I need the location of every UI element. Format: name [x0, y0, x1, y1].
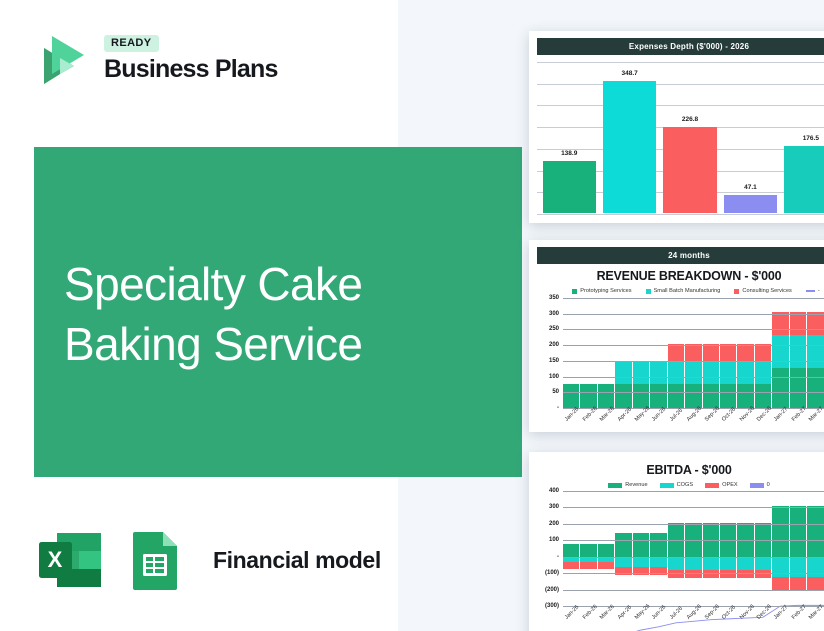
axis-tick: Jun-26 — [650, 408, 666, 432]
axis-tick-label: May-26 — [634, 405, 651, 422]
axis-tick: Mar-27 — [807, 408, 823, 432]
axis-tick-label: Nov-26 — [739, 406, 756, 423]
brand-block: READY Business Plans — [30, 28, 278, 90]
ebitda-plot-area — [563, 491, 824, 606]
bar-segment — [720, 362, 736, 384]
bar-column: 47.1 — [720, 62, 780, 213]
legend-swatch — [646, 289, 651, 294]
axis-tick-label: 100 — [549, 374, 559, 380]
bar-segment — [807, 557, 823, 578]
bar-segment — [633, 533, 649, 557]
gridline — [563, 557, 824, 558]
revenue-legend: Prototyping ServicesSmall Batch Manufact… — [537, 288, 824, 294]
axis-tick: Feb-26 — [580, 606, 596, 631]
axis-tick-label: 350 — [549, 295, 559, 301]
axis-tick-label: Oct-26 — [721, 605, 737, 621]
axis-tick-label: 50 — [552, 389, 559, 395]
legend-item: Small Batch Manufacturing — [646, 288, 721, 294]
gridline — [563, 590, 824, 591]
axis-tick: Sep-26 — [703, 408, 719, 432]
bar-segment — [668, 384, 684, 408]
chart-card-revenue[interactable]: 24 months REVENUE BREAKDOWN - $'000 Prot… — [529, 240, 824, 432]
legend-label: 0 — [767, 482, 770, 488]
bar-segment — [720, 557, 736, 570]
bar-segment — [563, 562, 579, 569]
bar-column: 176.5 — [781, 62, 824, 213]
axis-tick-label: Mar-27 — [808, 604, 824, 621]
bar-segment — [650, 384, 666, 408]
axis-tick: May-26 — [633, 408, 649, 432]
bar-segment — [720, 344, 736, 363]
axis-tick-label: Aug-26 — [686, 604, 703, 621]
bar-segment — [650, 362, 666, 384]
gridline — [563, 345, 824, 346]
axis-tick-label: - — [557, 554, 559, 560]
chart-card-expenses[interactable]: Expenses Depth ($'000) - 2026 138.9348.7… — [529, 31, 824, 223]
play-triangle-logo-icon — [30, 28, 92, 90]
legend-swatch — [572, 289, 577, 294]
bar: 226.8 — [663, 127, 716, 213]
bar-segment — [615, 362, 631, 384]
axis-tick: Feb-27 — [790, 606, 806, 631]
axis-tick: Dec-26 — [755, 408, 771, 432]
ready-badge: READY — [104, 35, 159, 52]
bar-segment — [650, 533, 666, 557]
axis-tick-label: Oct-26 — [721, 407, 737, 423]
bar-segment — [790, 368, 806, 408]
bar-segment — [790, 557, 806, 578]
gridline — [563, 507, 824, 508]
axis-tick-label: Feb-27 — [791, 604, 808, 621]
bar-segment — [755, 384, 771, 408]
legend-label: Prototyping Services — [580, 288, 631, 294]
bar-value-label: 226.8 — [663, 116, 716, 123]
bar-segment — [772, 577, 788, 590]
legend-label: COGS — [677, 482, 693, 488]
microsoft-excel-icon: X — [33, 524, 105, 596]
chart-header-revenue: 24 months — [537, 247, 824, 264]
axis-tick-label: 150 — [549, 358, 559, 364]
legend-label: OPEX — [722, 482, 738, 488]
axis-tick: Aug-26 — [685, 408, 701, 432]
bar-segment — [668, 362, 684, 384]
bar: 47.1 — [724, 195, 777, 213]
bar-segment — [703, 344, 719, 363]
axis-tick: Feb-26 — [580, 408, 596, 432]
axis-tick: Jun-26 — [650, 606, 666, 631]
axis-tick: Jan-27 — [772, 408, 788, 432]
gridline — [563, 392, 824, 393]
axis-tick-label: Jan-26 — [564, 604, 580, 620]
axis-tick-label: Jun-26 — [651, 406, 667, 422]
brand-name: Business Plans — [104, 56, 278, 82]
ebitda-chart-title: EBITDA - $'000 — [537, 463, 824, 477]
axis-tick-label: Jun-26 — [651, 604, 667, 620]
bar-segment — [580, 562, 596, 569]
axis-tick-label: 300 — [549, 311, 559, 317]
axis-tick: Jan-26 — [563, 408, 579, 432]
axis-tick-label: Jan-27 — [773, 604, 789, 620]
bar-segment — [807, 312, 823, 335]
bar-segment — [772, 335, 788, 368]
axis-tick: Mar-26 — [598, 408, 614, 432]
bar-value-label: 176.5 — [784, 135, 824, 142]
chart-header-expenses: Expenses Depth ($'000) - 2026 — [537, 38, 824, 55]
legend-swatch — [734, 289, 739, 294]
axis-tick: May-26 — [633, 606, 649, 631]
axis-tick-label: 300 — [549, 504, 559, 510]
gridline — [563, 298, 824, 299]
bar-segment — [598, 562, 614, 569]
axis-tick-label: Feb-26 — [582, 604, 599, 621]
axis-tick-label: Jul-26 — [669, 606, 684, 621]
axis-tick: Jul-26 — [668, 408, 684, 432]
legend-item: OPEX — [705, 482, 738, 488]
bar-segment — [685, 362, 701, 384]
bar-segment — [685, 557, 701, 570]
bar-segment — [685, 344, 701, 363]
axis-tick-label: Feb-26 — [582, 406, 599, 423]
ebitda-x-axis: Jan-26Feb-26Mar-26Apr-26May-26Jun-26Jul-… — [563, 606, 824, 631]
axis-tick-label: Sep-26 — [704, 406, 721, 423]
expenses-plot: 138.9348.7226.847.1176.5 — [537, 62, 824, 214]
axis-tick: Oct-26 — [720, 606, 736, 631]
axis-tick-label: Apr-26 — [616, 605, 632, 621]
axis-tick-label: Apr-26 — [616, 407, 632, 423]
bar-segment — [772, 312, 788, 335]
bar-value-label: 47.1 — [724, 184, 777, 191]
bar-segment — [668, 344, 684, 363]
legend-swatch — [608, 483, 622, 488]
bar-segment — [772, 506, 788, 557]
axis-tick: Aug-26 — [685, 606, 701, 631]
revenue-plot-area — [563, 298, 824, 408]
axis-tick: Dec-26 — [755, 606, 771, 631]
bar-segment — [755, 362, 771, 384]
bar-segment — [790, 335, 806, 368]
axis-tick-label: Dec-26 — [756, 406, 773, 423]
bar-segment — [720, 384, 736, 408]
ebitda-y-axis: 400300200100-(100)(200)(300) — [537, 491, 561, 606]
bar-segment — [580, 384, 596, 408]
bar-column: 226.8 — [660, 62, 720, 213]
ebitda-plot: 400300200100-(100)(200)(300) — [537, 491, 824, 606]
bar-segment — [772, 557, 788, 578]
legend-item: Revenue — [608, 482, 647, 488]
expenses-bars: 138.9348.7226.847.1176.5 — [539, 62, 824, 213]
bar-segment — [790, 312, 806, 335]
bar: 348.7 — [603, 81, 656, 213]
bar-column: 138.9 — [539, 62, 599, 213]
legend-label: Consulting Services — [742, 288, 791, 294]
axis-tick-label: Nov-26 — [739, 604, 756, 621]
bar-segment — [615, 384, 631, 408]
revenue-plot: 35030025020015010050- — [537, 298, 824, 408]
axis-tick: Nov-26 — [737, 606, 753, 631]
gridline — [563, 491, 824, 492]
revenue-chart-title: REVENUE BREAKDOWN - $'000 — [537, 269, 824, 283]
axis-tick-label: May-26 — [634, 603, 651, 620]
axis-tick-label: (100) — [545, 570, 559, 576]
gridline — [563, 377, 824, 378]
axis-tick: Jul-26 — [668, 606, 684, 631]
bar-segment — [703, 362, 719, 384]
axis-tick-label: Mar-26 — [599, 406, 616, 423]
gridline — [563, 361, 824, 362]
bar-segment — [685, 384, 701, 408]
bar-segment — [737, 557, 753, 570]
legend-item: 0 — [750, 482, 770, 488]
bar-segment — [668, 557, 684, 570]
chart-card-ebitda[interactable]: EBITDA - $'000 RevenueCOGSOPEX0 40030020… — [529, 452, 824, 631]
axis-tick-label: 100 — [549, 537, 559, 543]
bar-segment — [580, 544, 596, 556]
legend-swatch — [750, 483, 764, 488]
axis-tick-label: Jul-26 — [669, 408, 684, 423]
footer-row: X Financial model — [33, 524, 381, 596]
bar-segment — [755, 344, 771, 363]
axis-tick: Mar-27 — [807, 606, 823, 631]
axis-tick-label: 200 — [549, 521, 559, 527]
bar-segment — [807, 368, 823, 408]
bar-value-label: 348.7 — [603, 70, 656, 77]
legend-label: Small Batch Manufacturing — [654, 288, 721, 294]
bar-segment — [633, 557, 649, 567]
bar-segment — [737, 362, 753, 384]
axis-tick-label: 200 — [549, 342, 559, 348]
legend-item: COGS — [660, 482, 693, 488]
google-sheets-icon — [119, 524, 191, 596]
bar-segment — [650, 557, 666, 567]
axis-tick: Jan-27 — [772, 606, 788, 631]
revenue-x-axis: Jan-26Feb-26Mar-26Apr-26May-26Jun-26Jul-… — [563, 408, 824, 432]
svg-text:X: X — [48, 547, 63, 572]
axis-tick: Nov-26 — [737, 408, 753, 432]
axis-tick: Apr-26 — [615, 408, 631, 432]
gridline — [563, 314, 824, 315]
bar-segment — [563, 384, 579, 408]
revenue-y-axis: 35030025020015010050- — [537, 298, 561, 408]
axis-tick-label: Aug-26 — [686, 406, 703, 423]
legend-swatch — [660, 483, 674, 488]
bar-segment — [790, 577, 806, 590]
axis-tick-label: (200) — [545, 587, 559, 593]
footer-label: Financial model — [213, 547, 381, 574]
axis-tick-label: Mar-27 — [808, 406, 824, 423]
bar-segment — [615, 533, 631, 557]
axis-tick: Jan-26 — [563, 606, 579, 631]
bar-segment — [703, 384, 719, 408]
bar-segment — [703, 557, 719, 570]
legend-swatch — [806, 290, 815, 292]
bar-segment — [755, 557, 771, 570]
hero-panel: Specialty Cake Baking Service — [34, 147, 522, 477]
slide-canvas: READY Business Plans Specialty Cake Baki… — [0, 0, 824, 631]
legend-swatch — [705, 483, 719, 488]
page-title: Specialty Cake Baking Service — [64, 255, 494, 375]
axis-tick: Mar-26 — [598, 606, 614, 631]
bar-segment — [807, 577, 823, 590]
gridline — [537, 214, 824, 215]
axis-tick-label: 250 — [549, 326, 559, 332]
gridline — [563, 573, 824, 574]
axis-tick-label: Feb-27 — [791, 406, 808, 423]
bar-value-label: 138.9 — [543, 150, 596, 157]
axis-tick-label: Mar-26 — [599, 604, 616, 621]
legend-label: - — [818, 288, 820, 294]
axis-tick: Feb-27 — [790, 408, 806, 432]
legend-item: Prototyping Services — [572, 288, 631, 294]
bar-segment — [807, 335, 823, 368]
axis-tick-label: Jan-26 — [564, 406, 580, 422]
legend-item: Consulting Services — [734, 288, 791, 294]
axis-tick-label: Dec-26 — [756, 604, 773, 621]
axis-tick: Apr-26 — [615, 606, 631, 631]
bar-segment — [633, 362, 649, 384]
bar-segment — [598, 384, 614, 408]
axis-tick-label: Sep-26 — [704, 604, 721, 621]
legend-label: Revenue — [625, 482, 647, 488]
axis-tick: Sep-26 — [703, 606, 719, 631]
gridline — [563, 540, 824, 541]
gridline — [563, 524, 824, 525]
bar-segment — [563, 544, 579, 556]
axis-tick-label: Jan-27 — [773, 406, 789, 422]
bar-segment — [615, 557, 631, 567]
axis-tick: Oct-26 — [720, 408, 736, 432]
bar-column: 348.7 — [599, 62, 659, 213]
bar-segment — [807, 506, 823, 557]
bar: 138.9 — [543, 161, 596, 213]
legend-item: - — [806, 288, 820, 294]
ebitda-legend: RevenueCOGSOPEX0 — [537, 482, 824, 488]
axis-tick-label: 400 — [549, 488, 559, 494]
bar: 176.5 — [784, 146, 824, 213]
bar-segment — [772, 368, 788, 408]
bar-segment — [790, 506, 806, 557]
bar-segment — [737, 344, 753, 363]
gridline — [563, 329, 824, 330]
bar-segment — [598, 544, 614, 556]
